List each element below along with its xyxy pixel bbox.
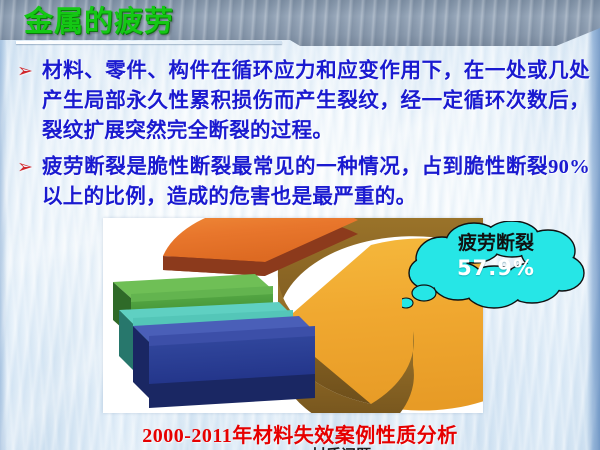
bullet-text-1: 材料、零件、构件在循环应力和应变作用下，在一处或几处产生局部永久性累积损伤而产生…	[42, 56, 590, 146]
chart-caption: 2000-2011年材料失效案例性质分析	[0, 419, 600, 448]
page-title: 金属的疲劳	[24, 5, 174, 39]
bullet-item-2: ➢ 疲劳断裂是脆性断裂最常见的一种情况，占到脆性断裂90%以上的比例，造成的危害…	[14, 152, 590, 212]
bullet-item-1: ➢ 材料、零件、构件在循环应力和应变作用下，在一处或几处产生局部永久性累积损伤而…	[14, 56, 590, 146]
arrow-bullet-icon: ➢	[17, 62, 37, 82]
arrow-bullet-icon: ➢	[17, 158, 37, 178]
title-underline	[16, 41, 282, 44]
callout-cloud-icon	[402, 221, 588, 309]
slide-canvas: 金属的疲劳 ➢ 材料、零件、构件在循环应力和应变作用下，在一处或几处产生局部永久…	[0, 0, 600, 450]
bullet-list: ➢ 材料、零件、构件在循环应力和应变作用下，在一处或几处产生局部永久性累积损伤而…	[14, 56, 590, 218]
left-edge-shading	[0, 0, 7, 450]
slice-yanxing-duanlie	[133, 316, 315, 408]
bullet-text-2: 疲劳断裂是脆性断裂最常见的一种情况，占到脆性断裂90%以上的比例，造成的危害也是…	[42, 152, 590, 212]
slice-caizhi-wenti	[163, 218, 358, 276]
